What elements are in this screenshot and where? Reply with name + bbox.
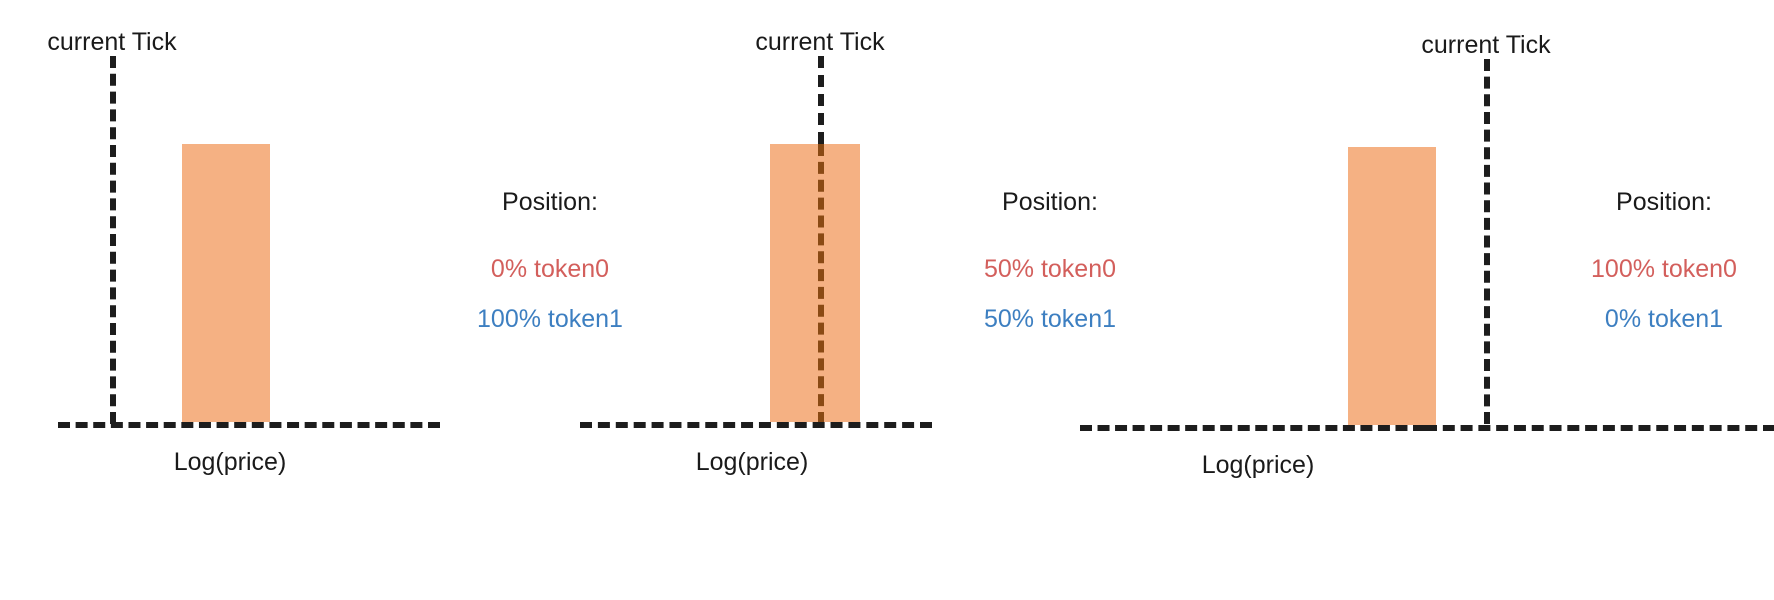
log-price-axis bbox=[58, 422, 440, 428]
log-price-axis bbox=[1080, 425, 1425, 431]
log-price-axis bbox=[580, 422, 932, 428]
log-price-axis-label: Log(price) bbox=[174, 450, 287, 475]
current-tick-label: current Tick bbox=[47, 30, 176, 55]
current-tick-label: current Tick bbox=[1421, 33, 1550, 58]
position-token0-value: 100% token0 bbox=[1554, 257, 1774, 282]
log-price-axis-continued bbox=[1425, 425, 1774, 431]
position-token1-value: 0% token1 bbox=[1554, 307, 1774, 332]
liquidity-range-bar bbox=[1348, 147, 1436, 425]
figure-canvas: current Tick Log(price) Position: 0% tok… bbox=[0, 0, 1774, 600]
current-tick-line bbox=[1484, 59, 1490, 424]
current-tick-line bbox=[818, 56, 824, 144]
log-price-axis-label: Log(price) bbox=[1202, 453, 1315, 478]
liquidity-range-bar bbox=[770, 144, 860, 422]
current-tick-line-over-bar bbox=[818, 144, 824, 424]
liquidity-range-bar bbox=[182, 144, 270, 422]
position-heading: Position: bbox=[1554, 190, 1774, 215]
current-tick-line bbox=[110, 56, 116, 424]
log-price-axis-label: Log(price) bbox=[696, 450, 809, 475]
panel-1: current Tick Log(price) Position: 0% tok… bbox=[0, 0, 560, 600]
position-legend: Position: 100% token0 0% token1 bbox=[1554, 190, 1774, 332]
current-tick-label: current Tick bbox=[755, 30, 884, 55]
panel-3: current Tick Log(price) Position: 100% t… bbox=[1080, 0, 1774, 600]
